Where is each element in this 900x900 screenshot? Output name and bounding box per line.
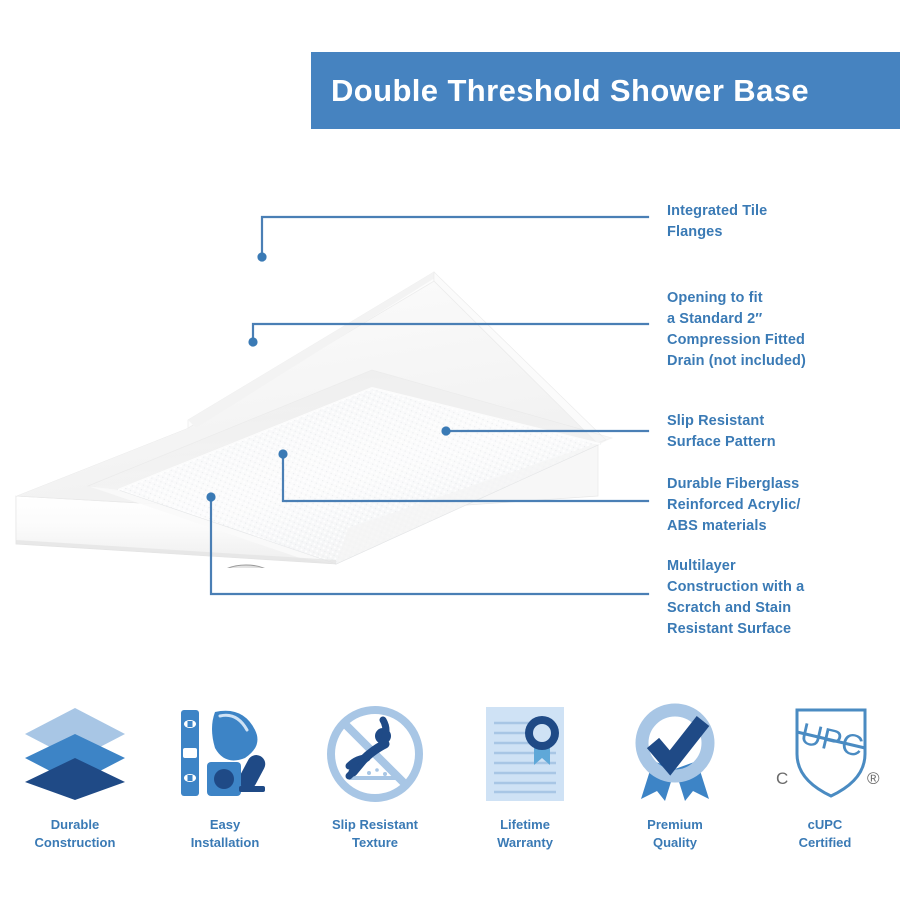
no-slip-prohibition-icon (323, 700, 427, 808)
feature-durable-construction: Durable Construction (0, 700, 150, 851)
product-illustration (0, 228, 640, 568)
upc-shield-icon: UPC C ® (767, 700, 883, 808)
infographic-canvas: Double Threshold Shower Base (0, 0, 900, 900)
callout-label-multilayer-construction: Multilayer Construction with a Scratch a… (667, 556, 804, 640)
callout-label-durable-fiberglass-material: Durable Fiberglass Reinforced Acrylic/ A… (667, 474, 801, 537)
feature-cupc-certified: UPC C ® cUPC Certified (750, 700, 900, 851)
callout-label-integrated-tile-flanges: Integrated Tile Flanges (667, 201, 767, 243)
callout-label-slip-resistant-surface: Slip Resistant Surface Pattern (667, 411, 776, 453)
page-title: Double Threshold Shower Base (331, 75, 809, 106)
drain-cover (215, 565, 277, 568)
feature-easy-installation: Easy Installation (150, 700, 300, 851)
feature-label-durable-construction: Durable Construction (35, 816, 116, 851)
feature-label-lifetime-warranty: Lifetime Warranty (497, 816, 553, 851)
feature-badges-row: Durable Construction (0, 700, 900, 875)
upc-registered-mark: ® (867, 769, 880, 788)
upc-c-mark: C (776, 769, 788, 788)
stacked-layers-icon (21, 700, 129, 808)
feature-label-slip-resistant-texture: Slip Resistant Texture (332, 816, 418, 851)
checkmark-rosette-icon (625, 700, 725, 808)
feature-lifetime-warranty: Lifetime Warranty (450, 700, 600, 851)
title-banner: Double Threshold Shower Base (311, 52, 900, 129)
certificate-document-icon (478, 700, 572, 808)
feature-label-premium-quality: Premium Quality (647, 816, 703, 851)
feature-slip-resistant-texture: Slip Resistant Texture (300, 700, 450, 851)
feature-label-easy-installation: Easy Installation (191, 816, 260, 851)
level-trowel-tools-icon (171, 700, 279, 808)
feature-label-cupc-certified: cUPC Certified (799, 816, 852, 851)
callout-label-drain-opening: Opening to fit a Standard 2″ Compression… (667, 288, 806, 372)
drain-assembly (213, 565, 279, 568)
feature-premium-quality: Premium Quality (600, 700, 750, 851)
